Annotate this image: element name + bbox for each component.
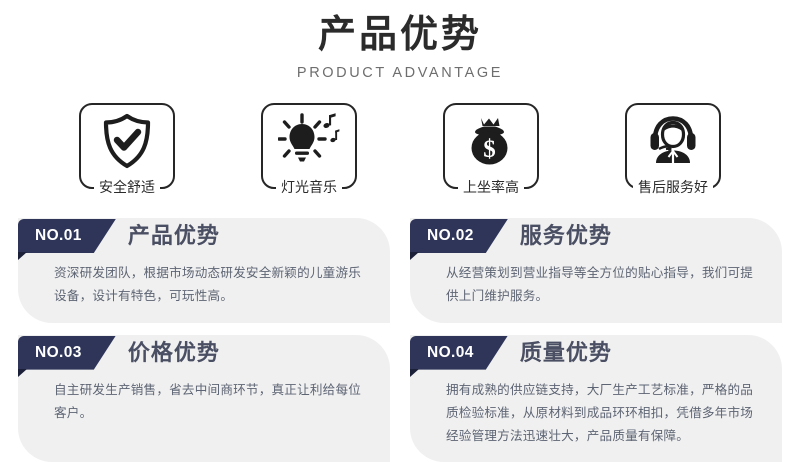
card-header: NO.01 产品优势 — [18, 218, 390, 254]
card-body: 自主研发生产销售，省去中间商环节，真正让利给每位客户。 — [18, 371, 390, 426]
card-badge: NO.04 — [410, 336, 508, 370]
badge-tail-icon — [410, 252, 419, 260]
card-title: 价格优势 — [128, 342, 220, 364]
lightbulb-music-icon — [278, 112, 340, 175]
page-header: 产品优势 PRODUCT ADVANTAGE — [0, 0, 800, 81]
card-badge: NO.03 — [18, 336, 116, 370]
feature-icon-row: 安全舒适 — [0, 103, 800, 189]
card-header: NO.02 服务优势 — [410, 218, 782, 254]
feature-item-lighting-music[interactable]: 灯光音乐 — [261, 103, 357, 189]
advantage-card: NO.03 价格优势 自主研发生产销售，省去中间商环节，真正让利给每位客户。 — [18, 335, 390, 462]
card-badge: NO.02 — [410, 219, 508, 253]
advantage-card-grid: NO.01 产品优势 资深研发团队，根据市场动态研发安全新颖的儿童游乐设备，设计… — [18, 218, 782, 462]
badge-tail-icon — [410, 369, 419, 377]
card-title: 服务优势 — [520, 225, 612, 247]
card-badge: NO.01 — [18, 219, 116, 253]
money-bag-icon: $ — [465, 112, 517, 175]
card-body: 拥有成熟的供应链支持，大厂生产工艺标准，严格的品质检验标准，从原材料到成品环环相… — [410, 371, 782, 449]
advantage-card: NO.01 产品优势 资深研发团队，根据市场动态研发安全新颖的儿童游乐设备，设计… — [18, 218, 390, 323]
card-header: NO.03 价格优势 — [18, 335, 390, 371]
feature-label: 上坐率高 — [458, 178, 524, 197]
page-title: 产品优势 — [0, 14, 800, 58]
badge-tail-icon — [18, 252, 27, 260]
advantage-card: NO.02 服务优势 从经营策划到营业指导等全方位的贴心指导，我们可提供上门维护… — [410, 218, 782, 323]
feature-label: 售后服务好 — [633, 178, 713, 197]
feature-item-after-sales[interactable]: 售后服务好 — [625, 103, 721, 189]
card-title: 产品优势 — [128, 225, 220, 247]
page-subtitle: PRODUCT ADVANTAGE — [0, 65, 800, 81]
card-body: 资深研发团队，根据市场动态研发安全新颖的儿童游乐设备，设计有特色，可玩性高。 — [18, 254, 390, 309]
advantage-card: NO.04 质量优势 拥有成熟的供应链支持，大厂生产工艺标准，严格的品质检验标准… — [410, 335, 782, 462]
card-body: 从经营策划到营业指导等全方位的贴心指导，我们可提供上门维护服务。 — [410, 254, 782, 309]
shield-check-icon — [100, 112, 154, 175]
headset-support-icon — [644, 113, 702, 174]
card-title: 质量优势 — [520, 342, 612, 364]
card-header: NO.04 质量优势 — [410, 335, 782, 371]
feature-label: 安全舒适 — [94, 178, 160, 197]
svg-text:$: $ — [483, 136, 496, 163]
feature-label: 灯光音乐 — [276, 178, 342, 197]
feature-item-safety[interactable]: 安全舒适 — [79, 103, 175, 189]
feature-item-occupancy[interactable]: $ 上坐率高 — [443, 103, 539, 189]
badge-tail-icon — [18, 369, 27, 377]
